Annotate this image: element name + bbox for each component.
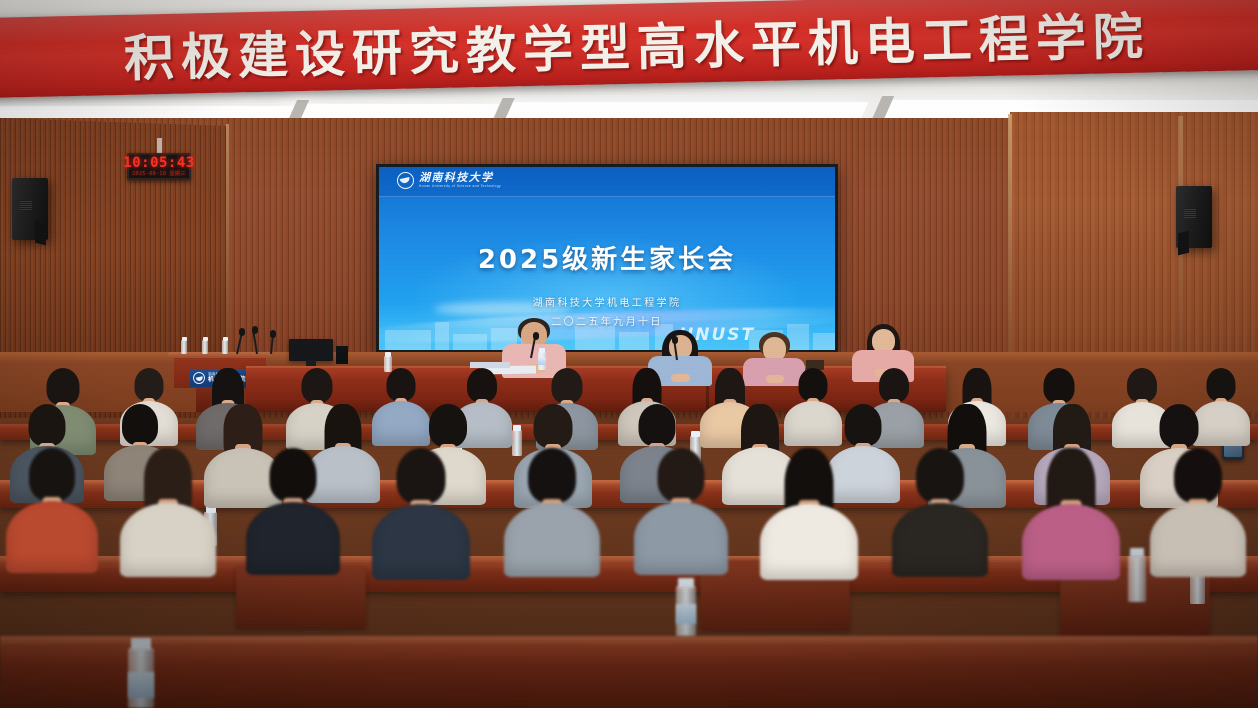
desk-row — [0, 646, 1258, 708]
bottle-cap — [539, 348, 545, 353]
stage-equipment-box — [336, 346, 348, 364]
microphone-head-icon — [239, 328, 245, 336]
torso — [1150, 503, 1246, 577]
hair — [916, 448, 964, 503]
university-emblem-icon — [397, 172, 414, 189]
torso — [504, 503, 600, 577]
bottle-label — [676, 604, 696, 624]
hair — [122, 404, 158, 445]
audience-member — [504, 448, 600, 568]
hair — [528, 448, 576, 503]
slide-building-silhouette — [453, 334, 487, 350]
clock-time-display: 10:05:43 — [123, 156, 194, 170]
microphone-head-icon — [533, 332, 539, 340]
speaker-bracket-right — [1178, 231, 1189, 256]
slide-building-silhouette — [385, 330, 431, 350]
hair — [845, 404, 882, 446]
speaker-grill-icon — [1184, 208, 1196, 218]
bottle-label — [128, 672, 154, 698]
water-bottle — [222, 340, 228, 354]
hair — [429, 404, 467, 447]
microphone-head-icon — [672, 336, 678, 344]
projection-screen: 湖南科技大学 Hunan University of Science and T… — [379, 167, 835, 350]
slide-building-silhouette — [813, 333, 835, 350]
hands — [766, 375, 784, 383]
audience-member — [1150, 448, 1246, 568]
torso — [760, 504, 858, 580]
speaker-bracket-left — [35, 221, 46, 246]
slide-subtitle: 湖南科技大学机电工程学院 — [379, 294, 835, 309]
university-logo-text: 湖南科技大学 Hunan University of Science and T… — [419, 172, 501, 188]
speaker-grill-icon — [20, 200, 32, 210]
torso — [1022, 504, 1120, 580]
audience-member — [634, 448, 728, 566]
bottle-cap — [131, 638, 151, 650]
hair — [270, 448, 317, 502]
hair — [47, 368, 80, 405]
audience-member — [372, 448, 470, 570]
hair — [552, 368, 583, 403]
bottle-cap — [385, 352, 391, 357]
hair — [1044, 368, 1075, 403]
hair — [397, 448, 446, 504]
microphone-head-icon — [270, 330, 276, 338]
hair — [1207, 368, 1236, 401]
university-logo: 湖南科技大学 Hunan University of Science and T… — [397, 172, 501, 189]
projection-screen-frame: 湖南科技大学 Hunan University of Science and T… — [376, 164, 838, 353]
torso — [246, 502, 340, 575]
microphone-head-icon — [252, 326, 258, 334]
hair — [534, 404, 573, 448]
torso — [892, 503, 988, 577]
chair-back — [236, 566, 366, 628]
audience-member — [892, 448, 988, 568]
stage-monitor — [289, 339, 333, 361]
bottle-label — [538, 358, 546, 365]
university-name-en: Hunan University of Science and Technolo… — [419, 185, 501, 188]
hair — [1174, 448, 1222, 503]
audience-member — [1022, 448, 1120, 570]
hair — [879, 368, 909, 402]
torso — [634, 502, 728, 575]
water-bottle — [181, 340, 187, 354]
bottle-cap — [678, 578, 694, 588]
audience-member — [6, 448, 98, 564]
torso — [372, 504, 470, 580]
torso — [6, 501, 98, 573]
torso — [120, 503, 216, 577]
university-name-cn: 湖南科技大学 — [419, 172, 501, 183]
hair — [799, 368, 828, 401]
led-wall-clock: 10:05:43 2025-09-10 星期三 — [127, 153, 191, 180]
hair — [1160, 404, 1199, 448]
clock-date-display: 2025-09-10 星期三 — [132, 172, 186, 177]
audience-member — [120, 448, 216, 568]
hair — [135, 368, 164, 401]
hair — [387, 368, 416, 401]
water-bottle — [202, 340, 208, 354]
hair — [1127, 368, 1157, 402]
bottle-cap — [223, 337, 228, 341]
audience-member — [246, 448, 340, 566]
audience-member — [760, 448, 858, 570]
slide-building-silhouette — [575, 326, 615, 350]
bottle-cap — [182, 337, 187, 341]
bottle-cap — [1130, 548, 1144, 557]
hair — [302, 368, 333, 403]
water-bottle — [1128, 556, 1146, 602]
slide-title: 2025级新生家长会 — [379, 239, 835, 276]
hair — [639, 404, 676, 446]
bottle-cap — [203, 337, 208, 341]
lecture-hall-photo: 积极建设研究教学型高水平机电工程学院 10:05:43 2025-09-10 星… — [0, 0, 1258, 708]
hair — [467, 368, 497, 402]
hair — [29, 448, 75, 501]
hair — [658, 448, 705, 502]
slide-date: 二〇二五年九月十日 — [379, 313, 835, 328]
hair — [29, 404, 66, 446]
